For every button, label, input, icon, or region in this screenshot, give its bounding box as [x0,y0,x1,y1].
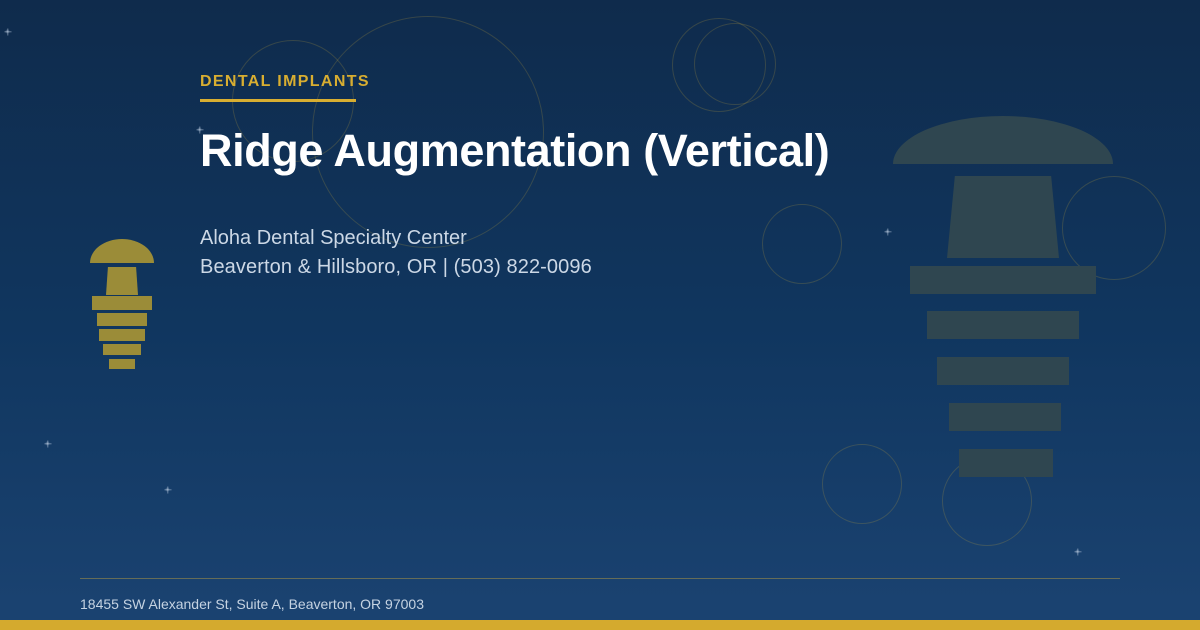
sparkle-icon [884,228,891,235]
implant-thread [109,359,135,369]
category-eyebrow: DENTAL IMPLANTS [200,74,370,90]
sparkle-icon [1074,548,1081,555]
implant-thread [103,344,141,355]
implant-thread [927,311,1079,339]
implant-dome [90,239,154,263]
sparkle-icon [44,440,51,447]
practice-locations-phone: Beaverton & Hillsboro, OR | (503) 822-00… [200,253,592,282]
implant-thread [949,403,1061,431]
footer-divider [80,578,1120,579]
implant-thread [92,296,152,310]
implant-thread [937,357,1069,385]
practice-info: Aloha Dental Specialty Center Beaverton … [200,224,592,282]
decor-circle [762,204,842,284]
decor-circle [822,444,902,524]
bottom-accent-bar [0,620,1200,630]
eyebrow-group: DENTAL IMPLANTS [200,74,370,102]
implant-thread [910,266,1096,294]
eyebrow-underline [200,99,356,102]
implant-thread [959,449,1053,477]
practice-name: Aloha Dental Specialty Center [200,224,592,253]
decor-circle [694,23,776,105]
sparkle-icon [4,28,11,35]
implant-dome [893,116,1113,164]
implant-abutment [947,176,1059,258]
decor-circle [672,18,766,112]
dental-implant-icon-large [893,116,1113,488]
footer-address: 18455 SW Alexander St, Suite A, Beaverto… [80,596,424,613]
social-share-banner: DENTAL IMPLANTS Ridge Augmentation (Vert… [0,0,1200,630]
implant-thread [99,329,145,341]
sparkle-icon [164,486,171,493]
implant-abutment [106,267,138,295]
page-title: Ridge Augmentation (Vertical) [200,126,829,176]
dental-implant-icon-small [90,239,154,351]
implant-thread [97,313,147,326]
